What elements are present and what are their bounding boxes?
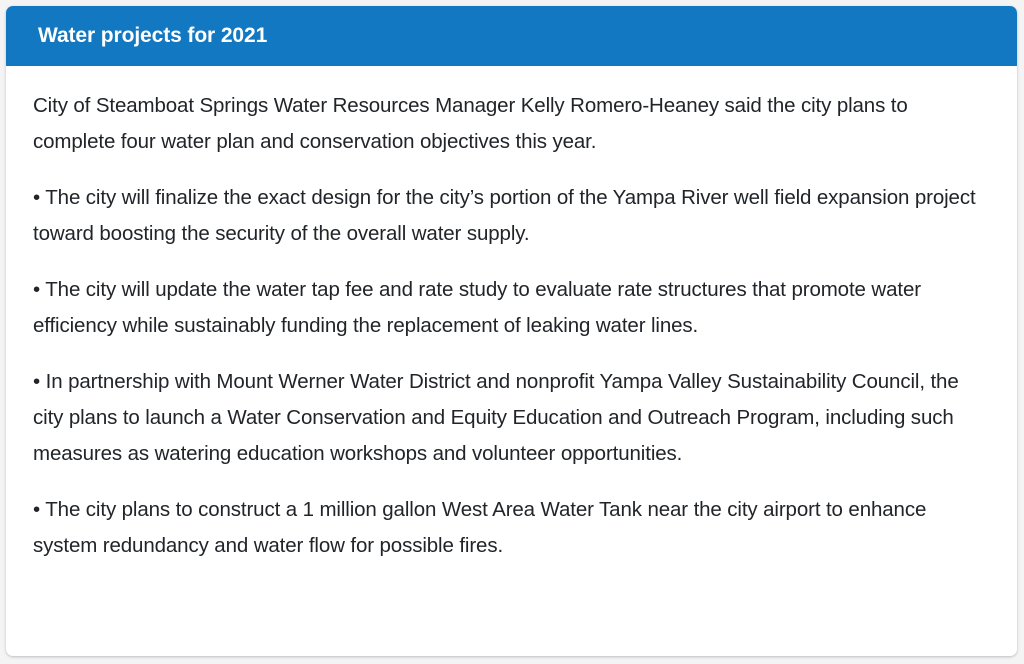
intro-paragraph: City of Steamboat Springs Water Resource… bbox=[33, 88, 984, 160]
water-projects-card: Water projects for 2021 City of Steamboa… bbox=[6, 6, 1017, 656]
bullet-item-water-tank: • The city plans to construct a 1 millio… bbox=[33, 492, 984, 564]
card-header: Water projects for 2021 bbox=[6, 6, 1017, 66]
bullet-item-education-program: • In partnership with Mount Werner Water… bbox=[33, 364, 984, 472]
page-title: Water projects for 2021 bbox=[38, 23, 267, 48]
bullet-item-well-field: • The city will finalize the exact desig… bbox=[33, 180, 984, 252]
bullet-item-tap-fee: • The city will update the water tap fee… bbox=[33, 272, 984, 344]
card-body: City of Steamboat Springs Water Resource… bbox=[6, 66, 1017, 656]
